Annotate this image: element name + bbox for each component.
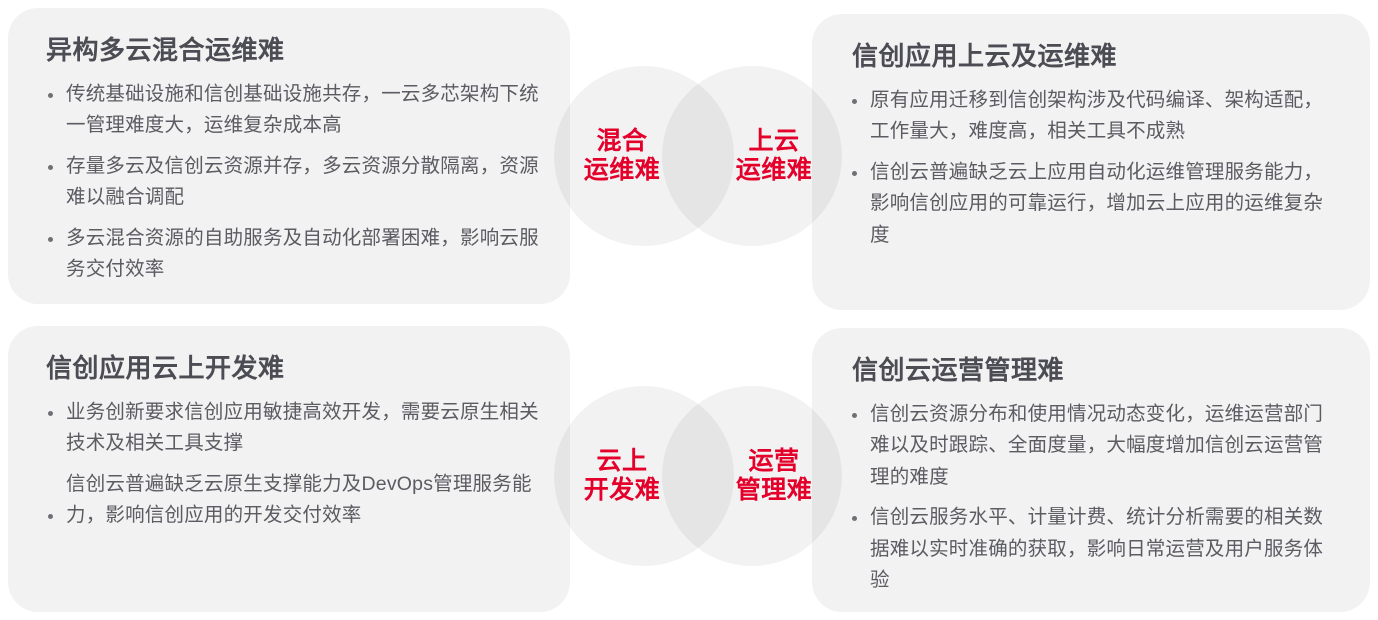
bullet-dot-icon [48, 411, 53, 416]
card-heterogeneous-multicloud-ops: 异构多云混合运维难 传统基础设施和信创基础设施共存，一云多芯架构下统一管理难度大… [8, 8, 570, 304]
list-item: 多云混合资源的自助服务及自动化部署困难，影响云服务交付效率 [46, 223, 540, 286]
card-title: 信创应用上云及运维难 [852, 40, 1340, 73]
bullet-dot-icon [852, 516, 857, 521]
bullet-dot-icon [48, 514, 53, 519]
card-cloud-operations-management: 信创云运营管理难 信创云资源分布和使用情况动态变化，运维运营部门难以及时跟踪、全… [812, 328, 1370, 612]
venn-circle-right [662, 386, 842, 566]
list-item-text: 信创云服务水平、计量计费、统计分析需要的相关数据难以实时准确的获取，影响日常运营… [870, 506, 1323, 591]
list-item: 信创云普遍缺乏云上应用自动化运维管理服务能力，影响信创应用的可靠运行，增加云上应… [850, 157, 1340, 252]
venn-diagram-bottom: 云上 开发难 运营 管理难 [554, 386, 844, 571]
list-item: 业务创新要求信创应用敏捷高效开发，需要云原生相关技术及相关工具支撑 [46, 397, 540, 460]
bullet-list: 传统基础设施和信创基础设施共存，一云多芯架构下统一管理难度大，运维复杂成本高 存… [46, 79, 540, 286]
list-item-text: 信创云普遍缺乏云原生支撑能力及DevOps管理服务能力，影响信创应用的开发交付效… [66, 473, 532, 527]
card-title: 信创应用云上开发难 [46, 352, 540, 385]
list-item: 信创云服务水平、计量计费、统计分析需要的相关数据难以实时准确的获取，影响日常运营… [850, 502, 1340, 597]
card-title: 异构多云混合运维难 [46, 34, 540, 67]
venn-diagram-top: 混合 运维难 上云 运维难 [554, 66, 844, 251]
bullet-list: 原有应用迁移到信创架构涉及代码编译、架构适配，工作量大，难度高，相关工具不成熟 … [850, 85, 1340, 252]
bullet-dot-icon [48, 165, 53, 170]
bullet-dot-icon [48, 93, 53, 98]
list-item: 存量多云及信创云资源并存，多云资源分散隔离，资源难以融合调配 [46, 151, 540, 214]
card-app-migration-ops: 信创应用上云及运维难 原有应用迁移到信创架构涉及代码编译、架构适配，工作量大，难… [812, 14, 1370, 310]
card-title: 信创云运营管理难 [852, 354, 1340, 387]
bullet-dot-icon [48, 237, 53, 242]
list-item: 原有应用迁移到信创架构涉及代码编译、架构适配，工作量大，难度高，相关工具不成熟 [850, 85, 1340, 148]
bullet-dot-icon [852, 171, 857, 176]
card-cloud-native-development: 信创应用云上开发难 业务创新要求信创应用敏捷高效开发，需要云原生相关技术及相关工… [8, 326, 570, 612]
list-item: 信创云普遍缺乏云原生支撑能力及DevOps管理服务能力，影响信创应用的开发交付效… [46, 469, 540, 532]
challenges-diagram: 异构多云混合运维难 传统基础设施和信创基础设施共存，一云多芯架构下统一管理难度大… [0, 0, 1378, 620]
list-item-text: 多云混合资源的自助服务及自动化部署困难，影响云服务交付效率 [66, 227, 539, 281]
list-item-text: 信创云资源分布和使用情况动态变化，运维运营部门难以及时跟踪、全面度量，大幅度增加… [870, 403, 1323, 488]
bullet-dot-icon [852, 99, 857, 104]
list-item-text: 业务创新要求信创应用敏捷高效开发，需要云原生相关技术及相关工具支撑 [66, 401, 539, 455]
list-item-text: 原有应用迁移到信创架构涉及代码编译、架构适配，工作量大，难度高，相关工具不成熟 [870, 89, 1323, 143]
list-item-text: 信创云普遍缺乏云上应用自动化运维管理服务能力，影响信创应用的可靠运行，增加云上应… [870, 161, 1323, 246]
venn-circle-right [662, 66, 842, 246]
bullet-dot-icon [852, 413, 857, 418]
bullet-list: 业务创新要求信创应用敏捷高效开发，需要云原生相关技术及相关工具支撑 信创云普遍缺… [46, 397, 540, 532]
bullet-list: 信创云资源分布和使用情况动态变化，运维运营部门难以及时跟踪、全面度量，大幅度增加… [850, 399, 1340, 597]
list-item: 信创云资源分布和使用情况动态变化，运维运营部门难以及时跟踪、全面度量，大幅度增加… [850, 399, 1340, 494]
list-item-text: 传统基础设施和信创基础设施共存，一云多芯架构下统一管理难度大，运维复杂成本高 [66, 83, 539, 137]
list-item-text: 存量多云及信创云资源并存，多云资源分散隔离，资源难以融合调配 [66, 155, 539, 209]
list-item: 传统基础设施和信创基础设施共存，一云多芯架构下统一管理难度大，运维复杂成本高 [46, 79, 540, 142]
